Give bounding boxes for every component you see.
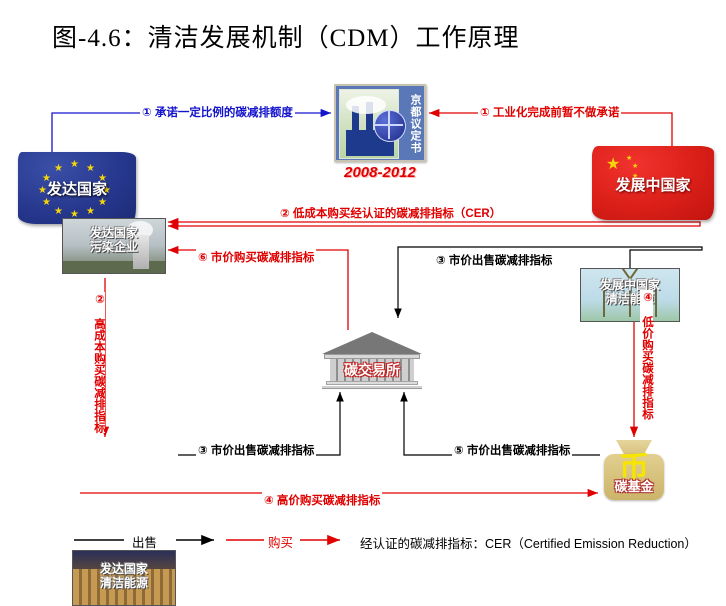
edge-label-no-commitment: ① 工业化完成前暂不做承诺	[478, 104, 621, 120]
developing-countries-label: 发展中国家	[592, 174, 714, 195]
base-shape	[326, 381, 418, 385]
edge-label-high-price-buy-4: ④ 高价购买碳减排指标	[262, 492, 382, 508]
node-kyoto-protocol[interactable]: 京都议定书 2008-2012	[334, 84, 426, 184]
carbon-exchange-label: 碳交易所	[322, 360, 422, 380]
edge-label-low-price-buy-4: ④ 低价购买碳减排指标	[640, 290, 653, 420]
polluter-label-line2: 污染企业	[63, 241, 165, 254]
ground-shape	[63, 261, 165, 273]
polluter-label-line1: 发达国家	[63, 227, 165, 240]
edge-label-cer-low-cost-buy: ② 低成本购买经认证的碳减排指标（CER）	[278, 205, 503, 221]
edge-label-high-cost-buy-2: ② 高成本购买碳减排指标	[92, 292, 105, 433]
roof-shape	[322, 332, 422, 354]
kyoto-protocol-icon: 京都议定书	[334, 84, 426, 162]
node-developed-countries-flag[interactable]: ★ ★ ★ ★ ★ ★ ★ ★ ★ ★ ★ ★ 发达国家	[18, 152, 136, 224]
developed-countries-label: 发达国家	[18, 178, 136, 199]
edge-label-commit-quota: ① 承诺一定比例的碳减排额度	[140, 104, 295, 120]
edge-label-market-buy-6: ⑥ 市价购买碳减排指标	[196, 249, 316, 265]
legend-sell-label: 出售	[132, 532, 157, 551]
dev-clean-label-line1: 发达国家	[73, 563, 175, 576]
node-carbon-exchange[interactable]: 碳交易所	[322, 326, 422, 392]
kyoto-protocol-text: 京都议定书	[398, 88, 422, 160]
legend-cer-note: 经认证的碳减排指标：CER（Certified Emission Reducti…	[360, 533, 697, 552]
node-developing-clean-energy[interactable]: 发展中国家 清洁能源	[580, 268, 680, 322]
edge-label-market-sell-3-bottom: ③ 市价出售碳减排指标	[196, 442, 316, 458]
edge-label-market-sell-3-top: ③ 市价出售碳减排指标	[434, 252, 554, 268]
node-carbon-fund[interactable]: 币 碳基金	[600, 440, 668, 502]
carbon-fund-label: 碳基金	[600, 480, 668, 493]
node-developing-countries-flag[interactable]: ★ ★ ★ ★ ★ 发展中国家	[592, 146, 714, 220]
base-shape	[322, 386, 422, 389]
legend-buy-label: 购买	[268, 532, 293, 551]
dev-clean-label-line2: 清洁能源	[73, 577, 175, 590]
node-developed-polluting-enterprise[interactable]: 发达国家 污染企业	[62, 218, 166, 274]
developing-clean-label-line2: 清洁能源	[581, 293, 679, 306]
node-developed-clean-energy[interactable]: 发达国家 清洁能源	[72, 550, 176, 606]
edge-label-market-sell-5-bottom: ⑤ 市价出售碳减排指标	[452, 442, 572, 458]
kyoto-years-label: 2008-2012	[334, 164, 426, 181]
developing-clean-label-line1: 发展中国家	[581, 279, 679, 292]
